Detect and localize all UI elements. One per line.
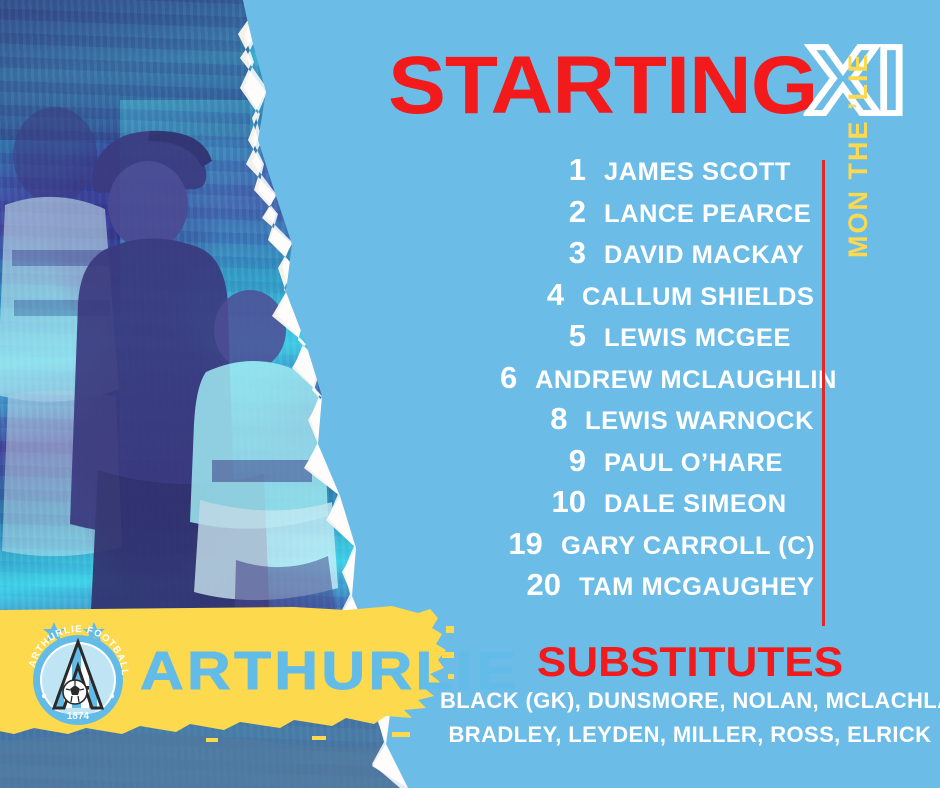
player-number: 3 <box>500 235 604 271</box>
substitutes-line-1: BLACK (GK), DUNSMORE, NOLAN, MCLACHLAN <box>440 684 940 718</box>
player-name: DALE SIMEON <box>604 490 787 519</box>
player-number: 19 <box>500 526 561 562</box>
player-row: 8 LEWIS WARNOCK <box>500 401 810 443</box>
player-row: 20 TAM MCGAUGHEY <box>500 567 810 609</box>
player-row: 3 DAVID MACKAY <box>500 235 810 277</box>
player-number: 9 <box>500 443 604 479</box>
player-name: LEWIS WARNOCK <box>585 407 814 436</box>
player-row: 10 DALE SIMEON <box>500 484 810 526</box>
player-row: 2 LANCE PEARCE <box>500 194 810 236</box>
player-number: 10 <box>500 484 604 520</box>
player-name: CALLUM SHIELDS <box>582 283 814 312</box>
player-row: 4 CALLUM SHIELDS <box>500 277 810 319</box>
player-number: 1 <box>500 152 604 188</box>
slogan-vertical: MON THE ’LIE <box>843 8 874 258</box>
substitutes-line-2: BRADLEY, LEYDEN, MILLER, ROSS, ELRICK <box>440 718 940 752</box>
player-row: 6 ANDREW MCLAUGHLIN <box>500 360 810 402</box>
player-name: GARY CARROLL (C) <box>561 532 815 561</box>
player-name: TAM MCGAUGHEY <box>579 573 815 602</box>
player-number: 2 <box>500 194 604 230</box>
player-number: 20 <box>500 567 579 603</box>
lineup-list: 1 JAMES SCOTT 2 LANCE PEARCE 3 DAVID MAC… <box>500 152 810 609</box>
player-number: 6 <box>500 360 535 396</box>
substitutes-heading: SUBSTITUTES <box>428 640 940 684</box>
title-starting: STARTING <box>388 49 817 123</box>
player-number: 5 <box>500 318 604 354</box>
player-name: ANDREW MCLAUGHLIN <box>535 366 837 395</box>
player-name: PAUL O’HARE <box>604 449 783 478</box>
red-divider-rule <box>822 160 825 626</box>
player-row: 9 PAUL O’HARE <box>500 443 810 485</box>
club-crest: ARTHURLIE FOOTBALL CLUB 1874 <box>18 612 138 732</box>
substitutes-section: SUBSTITUTES BLACK (GK), DUNSMORE, NOLAN,… <box>440 640 940 752</box>
player-row: 5 LEWIS MCGEE <box>500 318 810 360</box>
player-row: 19 GARY CARROLL (C) <box>500 526 810 568</box>
player-row: 1 JAMES SCOTT <box>500 152 810 194</box>
crest-founded-year: 1874 <box>67 711 90 722</box>
page-title: STARTING XI <box>388 38 894 124</box>
starting-xi-poster: ARTHURLIE FOOTBALL CLUB 1874 ARTHURLIE S… <box>0 0 940 788</box>
player-name: DAVID MACKAY <box>604 241 804 270</box>
player-name: LANCE PEARCE <box>604 200 811 229</box>
player-number: 8 <box>500 401 585 437</box>
player-name: LEWIS MCGEE <box>604 324 791 353</box>
player-name: JAMES SCOTT <box>604 158 791 187</box>
player-number: 4 <box>500 277 582 313</box>
